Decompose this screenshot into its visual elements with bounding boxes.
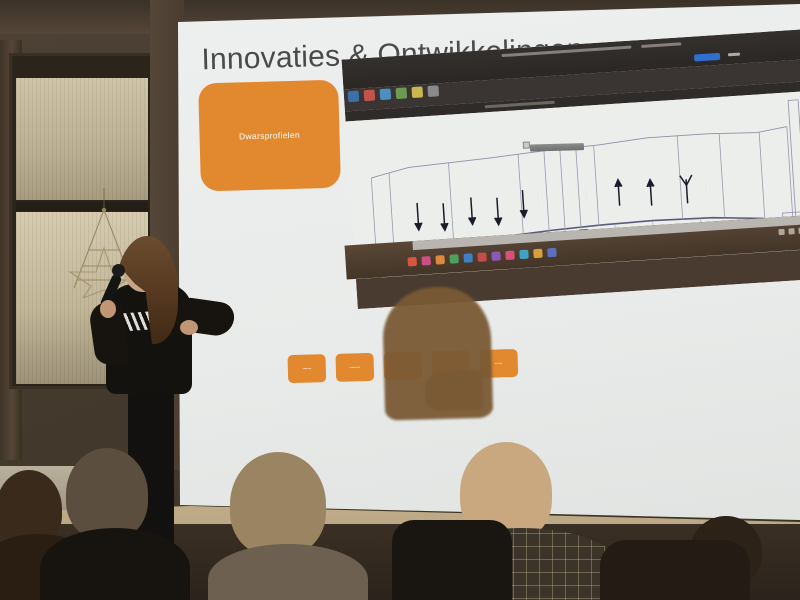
window-blind-upper xyxy=(16,78,148,200)
taskbar-app-icon[interactable] xyxy=(435,255,445,265)
taskbar-app-icon[interactable] xyxy=(477,252,487,262)
audience-shoulders xyxy=(40,528,190,600)
taskbar-app-icon[interactable] xyxy=(407,257,417,267)
taskbar-app-icon[interactable] xyxy=(463,253,473,263)
slide-chip-label: ••••••• xyxy=(303,367,312,371)
taskbar-app-icon[interactable] xyxy=(547,248,557,258)
audience-shoulders xyxy=(208,544,368,600)
audience-member xyxy=(58,448,198,600)
svg-text:· · · · · ·: · · · · · · xyxy=(703,182,708,194)
taskbar-pinned-icons[interactable] xyxy=(407,248,556,267)
cad-ribbon-chip xyxy=(728,53,740,57)
cad-command-text xyxy=(485,101,555,109)
svg-text:· · · · · ·: · · · · · · xyxy=(444,199,449,211)
cad-tool-icon[interactable] xyxy=(348,91,360,103)
taskbar-app-icon[interactable] xyxy=(505,250,515,260)
taskbar-app-icon[interactable] xyxy=(519,250,529,260)
cad-tool-icon[interactable] xyxy=(427,85,439,97)
chair-back xyxy=(600,540,750,600)
cad-tool-icon[interactable] xyxy=(380,88,392,100)
taskbar-app-icon[interactable] xyxy=(533,249,543,259)
svg-text:· · · · · ·: · · · · · · xyxy=(583,186,588,198)
slide-chip-label: ••••••••• xyxy=(349,365,360,369)
audience-member xyxy=(212,452,362,600)
slide-label-card[interactable]: Dwarsprofielen xyxy=(198,80,341,192)
cad-tool-icon[interactable] xyxy=(411,86,423,98)
presenter-shadow-arm xyxy=(424,370,483,412)
slide-label-card-text: Dwarsprofielen xyxy=(239,130,300,142)
cad-tool-icon[interactable] xyxy=(364,90,376,102)
presenter-hand-right xyxy=(180,320,198,335)
presenter-hand-left xyxy=(100,300,116,318)
taskbar-system-tray[interactable] xyxy=(778,227,800,235)
selection-grip-handle[interactable] xyxy=(523,142,530,149)
tray-icon[interactable] xyxy=(778,229,784,235)
cad-ribbon-tabs-extra xyxy=(641,42,681,48)
slide-chip-label: •••••• xyxy=(495,361,502,365)
svg-text:· · · · · ·: · · · · · · xyxy=(536,191,541,203)
taskbar-app-icon[interactable] xyxy=(491,251,501,261)
slide-chip[interactable]: ••••••••• xyxy=(335,353,374,382)
audience-head xyxy=(66,448,148,540)
cad-tool-icon[interactable] xyxy=(395,87,407,99)
tray-icon[interactable] xyxy=(788,228,794,234)
microphone-head-icon xyxy=(112,264,125,277)
taskbar-app-icon[interactable] xyxy=(449,254,459,264)
cad-highlight-button[interactable] xyxy=(694,53,720,62)
taskbar-app-icon[interactable] xyxy=(421,256,431,266)
presentation-photo-scene: Innovaties & Ontwikkelingen Dwarsprofiel… xyxy=(0,0,800,600)
audience-head xyxy=(230,452,326,556)
chair-back xyxy=(392,520,512,600)
blind-texture xyxy=(16,78,148,200)
cad-ribbon-tabs xyxy=(501,46,631,57)
slide-chip[interactable]: ••••••• xyxy=(287,354,326,383)
selection-bar[interactable] xyxy=(530,143,584,151)
